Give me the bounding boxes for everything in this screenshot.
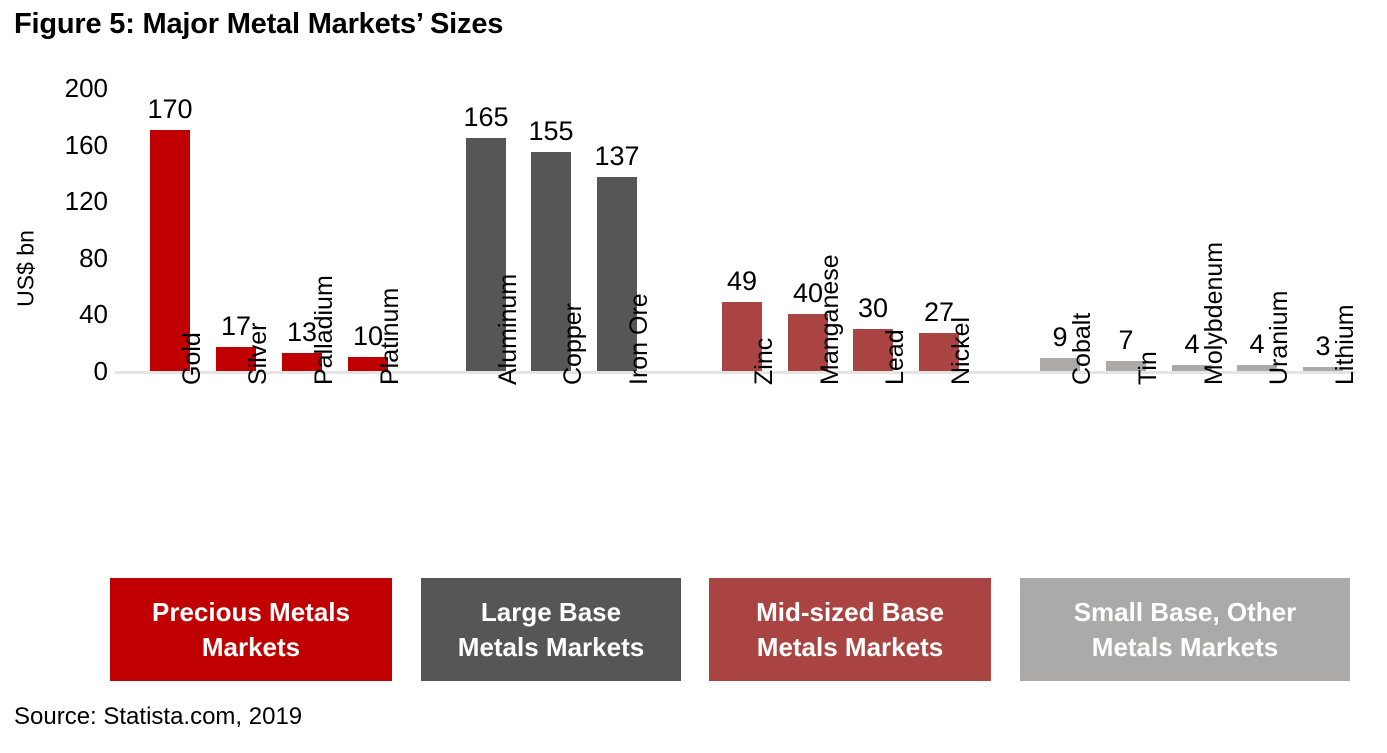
legend-item-label: Precious MetalsMarkets (152, 595, 350, 664)
x-axis-category-label: Platinum (378, 288, 403, 385)
page-title: Figure 5: Major Metal Markets’ Sizes (14, 8, 503, 41)
bar-value-label: 49 (704, 268, 780, 295)
legend-item[interactable]: Mid-sized BaseMetals Markets (709, 578, 991, 681)
x-axis-category-label: Aluminum (496, 274, 521, 385)
legend-item[interactable]: Large BaseMetals Markets (421, 578, 681, 681)
legend-item-label: Large BaseMetals Markets (458, 595, 644, 664)
legend-item[interactable]: Precious MetalsMarkets (110, 578, 392, 681)
x-axis-category-label: Lithium (1333, 304, 1358, 385)
x-axis-category-label: Iron Ore (627, 293, 652, 385)
x-axis-category-label: Nickel (949, 317, 974, 385)
legend-item-label: Mid-sized BaseMetals Markets (756, 595, 944, 664)
x-axis-category-label: Copper (561, 303, 586, 385)
legend-item-label: Small Base, OtherMetals Markets (1074, 595, 1297, 664)
x-axis-category-label: Zinc (752, 338, 777, 385)
x-axis-category-label: Gold (180, 332, 205, 385)
x-axis-category-label: Lead (883, 329, 908, 385)
bar-value-label: 30 (835, 295, 911, 322)
source-note: Source: Statista.com, 2019 (14, 703, 302, 731)
legend-item[interactable]: Small Base, OtherMetals Markets (1020, 578, 1350, 681)
bar-value-label: 170 (132, 96, 208, 123)
bar-value-label: 155 (513, 118, 589, 145)
bars-layer: 170Gold17Silver13Palladium10Platinum165A… (0, 60, 1387, 560)
bar-chart-plot: US$ bn 20016012080400 170Gold17Silver13P… (0, 60, 1387, 560)
chart-legend: Precious MetalsMarketsLarge BaseMetals M… (0, 578, 1387, 686)
bar-value-label: 7 (1088, 327, 1164, 354)
x-axis-category-label: Molybdenum (1202, 242, 1227, 385)
bar-value-label: 137 (579, 143, 655, 170)
